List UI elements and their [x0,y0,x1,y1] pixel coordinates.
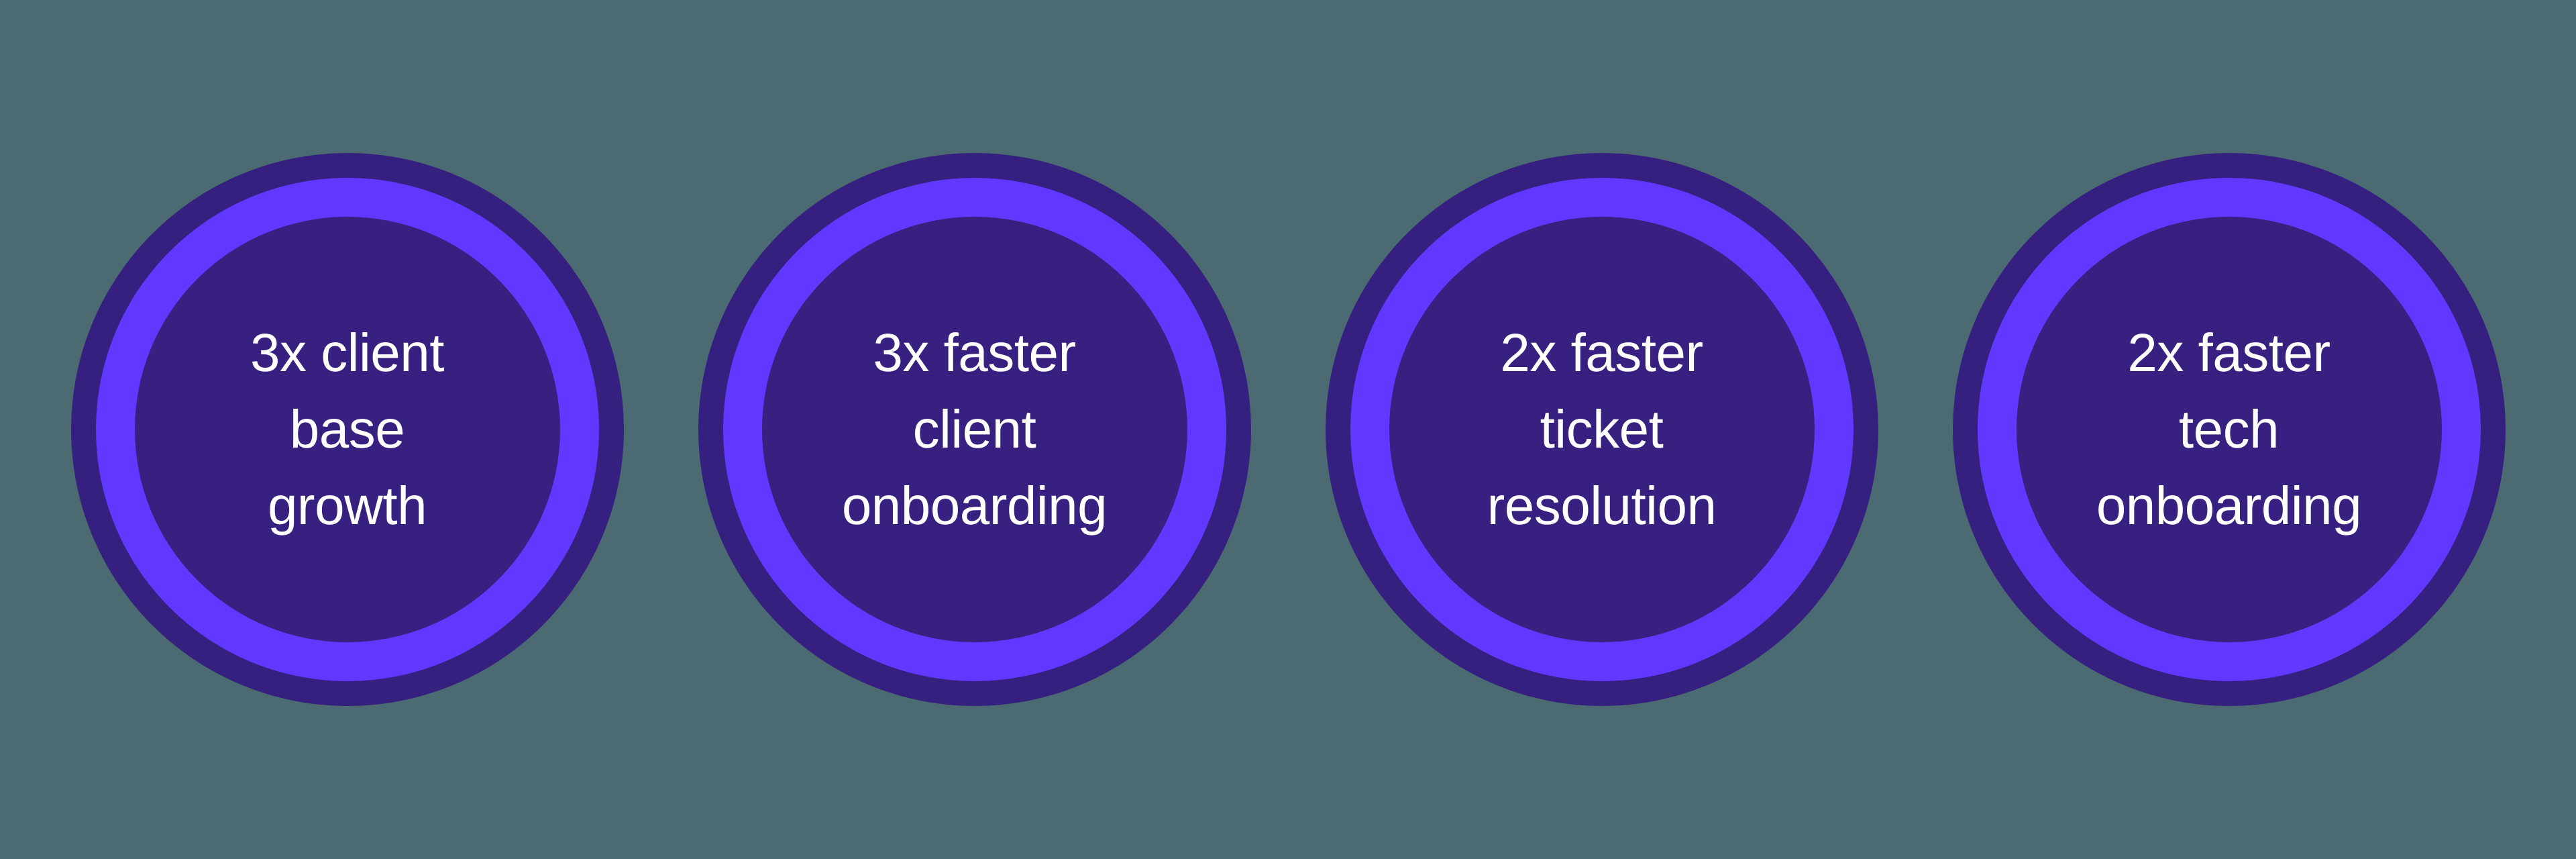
stat-circle-core: 3x client base growth [135,217,560,642]
stat-circle-label: 3x client base growth [160,315,535,544]
stat-circle-label: 2x faster tech onboarding [2041,315,2417,544]
stat-circle-label: 2x faster ticket resolution [1414,315,1790,544]
stat-circle-ticket-resolution: 2x faster ticket resolution [1326,153,1878,706]
stat-circle-core: 2x faster ticket resolution [1389,217,1815,642]
stat-circle-core: 3x faster client onboarding [762,217,1187,642]
stat-circle-tech-onboarding: 2x faster tech onboarding [1953,153,2506,706]
stats-circles-container: 3x client base growth 3x faster client o… [0,0,2576,859]
stat-circle-core: 2x faster tech onboarding [2017,217,2442,642]
stat-circle-client-base-growth: 3x client base growth [71,153,624,706]
stat-circle-label: 3x faster client onboarding [787,315,1163,544]
stat-circle-client-onboarding: 3x faster client onboarding [698,153,1251,706]
